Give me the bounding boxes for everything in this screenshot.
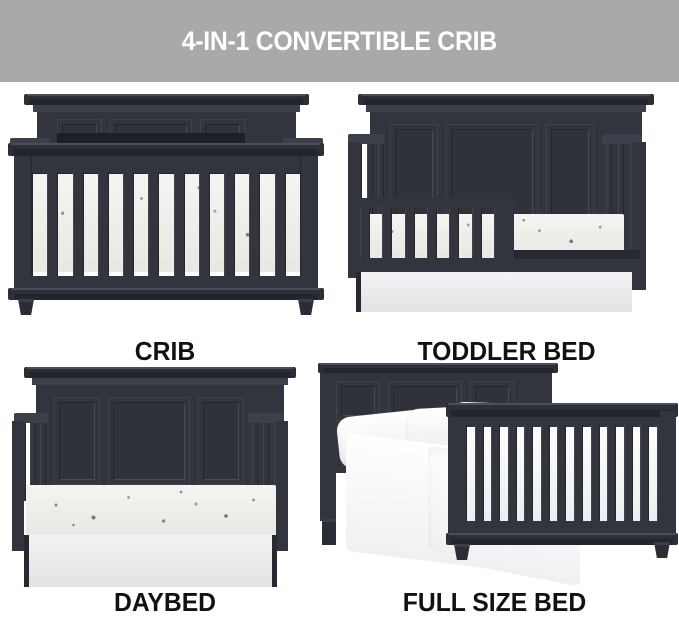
crib-top-rail [8,143,324,156]
crib-crown-molding [24,94,309,105]
header-banner: 4-IN-1 CONVERTIBLE CRIB [0,0,679,82]
crib-leg [298,299,314,315]
daybed-photo [0,361,330,624]
configuration-crib: CRIB [0,86,330,361]
full-headboard-crown [318,363,558,373]
toddler-guard-rail-slats [360,207,504,261]
daybed-bed-skirt [28,535,272,587]
caption-full-size-bed: FULL SIZE BED [319,587,670,618]
crib-leg [18,299,34,315]
configuration-full-size-bed: FULL SIZE BED [310,361,679,624]
full-size-bed-photo [310,361,679,624]
daybed-headboard-panel [54,397,100,485]
crib-base-molding [8,288,324,300]
page-title: 4-IN-1 CONVERTIBLE CRIB [182,26,497,57]
product-image: 4-IN-1 CONVERTIBLE CRIB [0,0,679,624]
full-footboard-slats [458,425,666,523]
daybed-crown-molding [24,367,296,378]
caption-daybed: DAYBED [8,587,322,618]
daybed-mattress [26,485,276,535]
full-bed-leg [654,542,670,558]
crib-photo [0,86,330,361]
daybed-headboard-panel [108,397,190,485]
configuration-daybed: DAYBED [0,361,330,624]
toddler-bed-photo [334,86,679,361]
configuration-grid: CRIB [0,82,679,624]
full-footboard-crown [446,403,678,417]
configuration-toddler-bed: TODDLER BED [334,86,679,361]
toddler-bed-skirt [360,272,632,312]
daybed-headboard-panel [198,397,244,485]
full-headboard-foot [322,519,336,545]
toddler-crown-molding [358,94,654,105]
crib-slats [22,172,311,276]
toddler-guard-rail-top [356,198,508,207]
full-footboard-base-molding [446,533,678,545]
